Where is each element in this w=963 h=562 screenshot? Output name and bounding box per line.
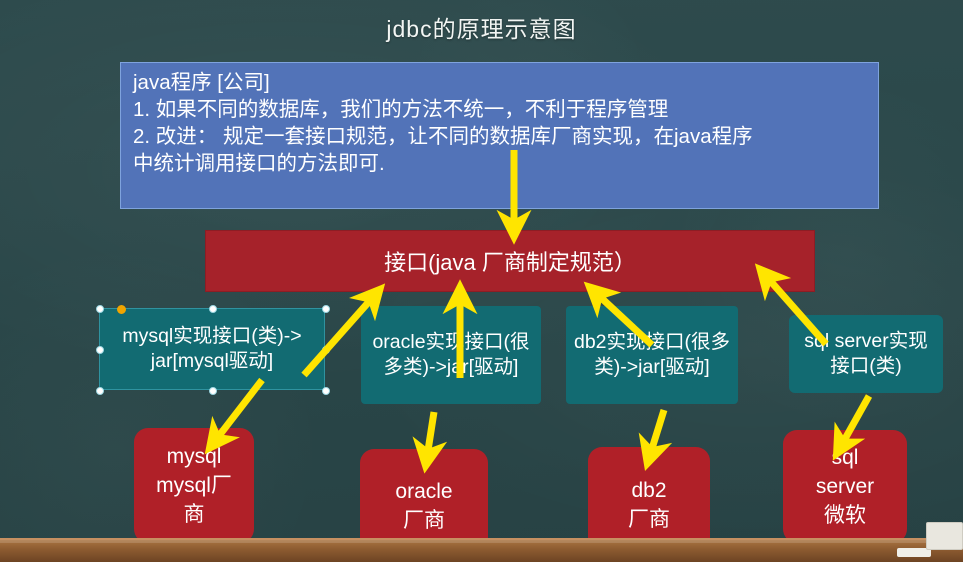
impl-box-sqlserver-label: sql server实现接口(类)	[795, 329, 937, 379]
blue-box-line-4: 中统计调用接口的方法即可.	[133, 150, 868, 177]
vendor-db2-line-2: 厂商	[628, 505, 670, 534]
vendor-sqlserver-line-3: 微软	[824, 501, 866, 530]
blue-box-line-1: java程序 [公司]	[133, 69, 868, 96]
page-title: jdbc的原理示意图	[0, 10, 963, 44]
interface-spec-bar[interactable]: 接口(java 厂商制定规范）	[205, 230, 815, 292]
vendor-sqlserver-line-2: server	[816, 472, 874, 501]
vendor-mysql-line-2: mysql厂	[156, 471, 232, 500]
vendor-mysql-line-3: 商	[184, 500, 205, 529]
chalkboard-canvas: jdbc的原理示意图 java程序 [公司] 1. 如果不同的数据库，我们的方法…	[0, 0, 963, 562]
selection-handle-nw[interactable]	[96, 305, 104, 313]
impl-box-sqlserver[interactable]: sql server实现接口(类)	[789, 315, 943, 393]
impl-box-mysql[interactable]: mysql实现接口(类)-> jar[mysql驱动]	[99, 308, 325, 390]
vendor-mysql-line-1: mysql	[167, 442, 222, 471]
impl-box-mysql-label: mysql实现接口(类)-> jar[mysql驱动]	[106, 324, 318, 374]
selection-handle-e[interactable]	[322, 346, 330, 354]
selection-rotate-handle[interactable]	[117, 305, 126, 314]
impl-box-oracle-label: oracle实现接口(很多类)->jar[驱动]	[367, 330, 535, 380]
vendor-box-mysql[interactable]: mysql mysql厂 商	[134, 428, 254, 543]
interface-spec-label: 接口(java 厂商制定规范）	[384, 245, 636, 277]
selection-handle-n[interactable]	[209, 305, 217, 313]
vendor-sqlserver-line-1: sql	[832, 443, 859, 472]
impl-box-oracle[interactable]: oracle实现接口(很多类)->jar[驱动]	[361, 306, 541, 404]
impl-box-db2[interactable]: db2实现接口(很多类)->jar[驱动]	[566, 306, 738, 404]
selection-handle-sw[interactable]	[96, 387, 104, 395]
selection-handle-s[interactable]	[209, 387, 217, 395]
chalk-ledge	[0, 538, 963, 562]
blue-box-line-3: 2. 改进： 规定一套接口规范，让不同的数据库厂商实现，在java程序	[133, 123, 868, 150]
eraser-icon	[926, 522, 963, 550]
blue-box-line-2: 1. 如果不同的数据库，我们的方法不统一，不利于程序管理	[133, 96, 868, 123]
vendor-db2-line-1: db2	[631, 476, 666, 505]
java-program-note-box[interactable]: java程序 [公司] 1. 如果不同的数据库，我们的方法不统一，不利于程序管理…	[120, 62, 879, 209]
impl-box-db2-label: db2实现接口(很多类)->jar[驱动]	[572, 330, 732, 380]
selection-handle-ne[interactable]	[322, 305, 330, 313]
selection-handle-w[interactable]	[96, 346, 104, 354]
vendor-oracle-line-2: 厂商	[403, 506, 445, 535]
selection-handle-se[interactable]	[322, 387, 330, 395]
vendor-box-sqlserver[interactable]: sql server 微软	[783, 430, 907, 543]
vendor-oracle-line-1: oracle	[395, 477, 452, 506]
